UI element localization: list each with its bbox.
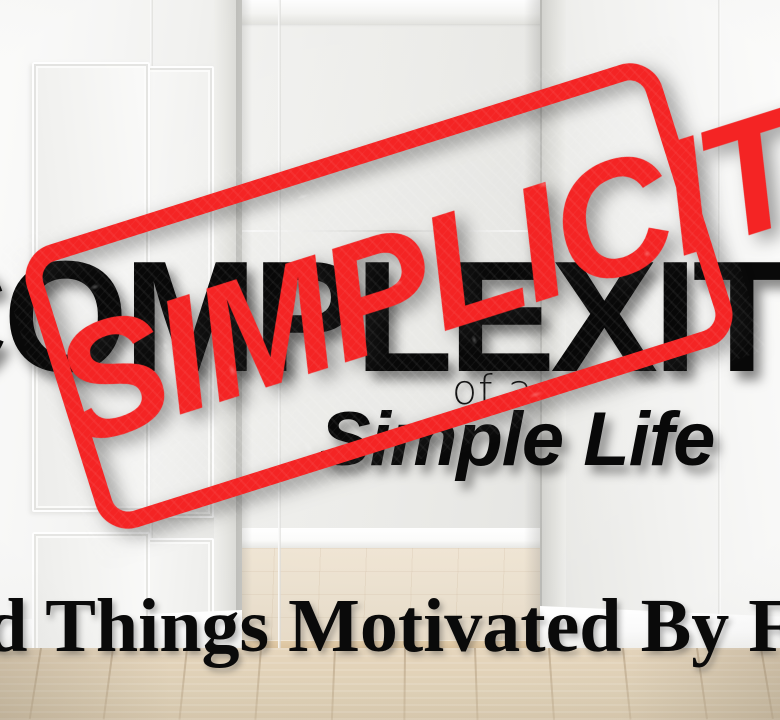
- image-canvas: COMPLEXITY of a Simple Life d Things Mot…: [0, 0, 780, 720]
- bottom-tagline: d Things Motivated By F: [0, 583, 780, 670]
